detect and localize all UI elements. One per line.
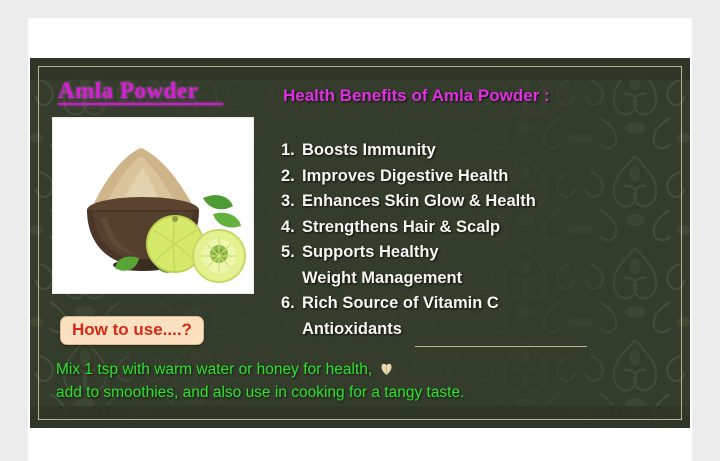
list-item-continuation: Weight Management xyxy=(281,266,671,292)
page-title: Amla Powder xyxy=(58,78,198,104)
screenshot-root: Amla Powder ............................… xyxy=(0,0,720,461)
list-item: 5. Supports Healthy xyxy=(281,240,671,266)
list-item-label: Enhances Skin Glow & Health xyxy=(302,189,671,215)
list-item-number: 4. xyxy=(281,215,302,241)
list-item: 3. Enhances Skin Glow & Health xyxy=(281,189,671,215)
product-photo xyxy=(52,117,254,294)
list-divider-rule xyxy=(415,346,587,347)
list-item-label: Boosts Immunity xyxy=(302,138,671,164)
title-subtext: ................................ xyxy=(59,105,222,111)
list-item-number: 2. xyxy=(281,164,302,190)
benefits-heading: Health Benefits of Amla Powder : xyxy=(283,86,550,106)
list-item: 2. Improves Digestive Health xyxy=(281,164,671,190)
usage-line-1: Mix 1 tsp with warm water or honey for h… xyxy=(56,358,666,381)
usage-instructions: Mix 1 tsp with warm water or honey for h… xyxy=(56,358,666,404)
benefits-list: 1. Boosts Immunity 2. Improves Digestive… xyxy=(281,138,671,342)
list-item-label: Supports Healthy xyxy=(302,240,671,266)
list-item-continuation: Antioxidants xyxy=(281,317,671,343)
list-item-label: Improves Digestive Health xyxy=(302,164,671,190)
how-to-use-chip[interactable]: How to use....? xyxy=(60,316,204,345)
list-item: 4. Strengthens Hair & Scalp xyxy=(281,215,671,241)
list-item-number: 3. xyxy=(281,189,302,215)
list-item: 6. Rich Source of Vitamin C xyxy=(281,291,671,317)
usage-line-1-text: Mix 1 tsp with warm water or honey for h… xyxy=(56,361,372,378)
list-item-number: 6. xyxy=(281,291,302,317)
list-item-label: Rich Source of Vitamin C xyxy=(302,291,671,317)
usage-line-2: add to smoothies, and also use in cookin… xyxy=(56,381,666,404)
list-item-number: 1. xyxy=(281,138,302,164)
list-item-number: 5. xyxy=(281,240,302,266)
floral-ornament-icon xyxy=(380,361,393,376)
list-item-label: Strengthens Hair & Scalp xyxy=(302,215,671,241)
list-item: 1. Boosts Immunity xyxy=(281,138,671,164)
amla-powder-poster-card: Amla Powder ............................… xyxy=(30,58,690,428)
